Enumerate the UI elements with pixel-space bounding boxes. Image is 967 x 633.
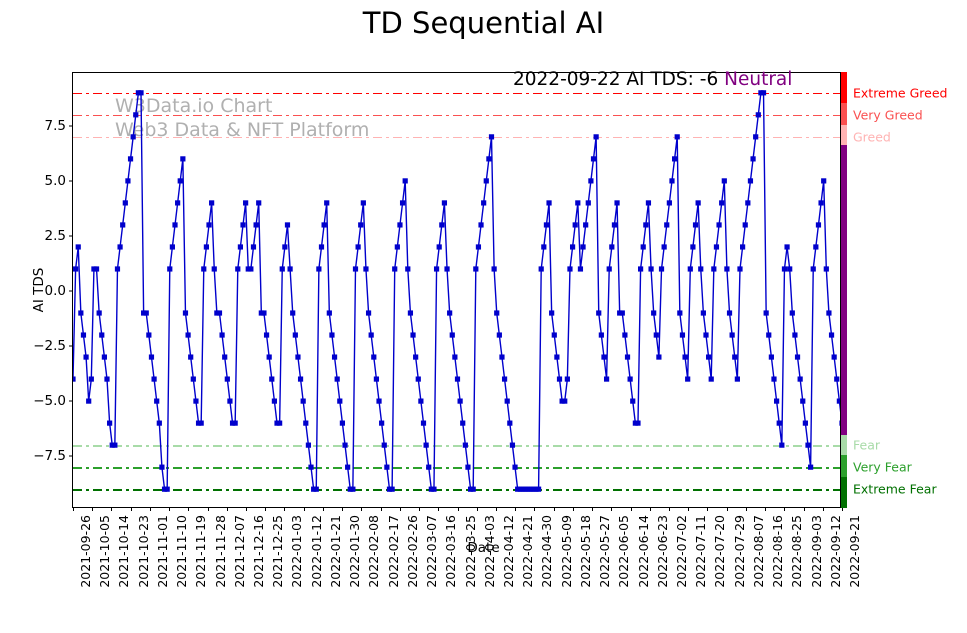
x-tick-mark [611, 507, 612, 511]
series-marker [473, 266, 478, 271]
series-marker [94, 266, 99, 271]
series-marker [777, 421, 782, 426]
plot-area: AI TDS 7.55.02.50.0−2.5−5.0−7.5 2021-09-… [72, 72, 841, 508]
series-marker [89, 376, 94, 381]
series-marker [264, 332, 269, 337]
colorbar-segment-very-greed [841, 103, 847, 125]
series-marker [329, 332, 334, 337]
annotation-sentiment: Neutral [724, 69, 792, 90]
series-marker [492, 266, 497, 271]
threshold-label: Extreme Fear [853, 482, 937, 497]
series-marker [609, 244, 614, 249]
series-marker [240, 222, 245, 227]
series-marker [484, 178, 489, 183]
series-marker [790, 310, 795, 315]
series-marker [280, 266, 285, 271]
series-marker [546, 200, 551, 205]
x-tick-mark [765, 507, 766, 511]
series-marker [648, 266, 653, 271]
x-tick-mark [208, 507, 209, 511]
series-marker [316, 266, 321, 271]
series-marker [170, 244, 175, 249]
series-marker [455, 376, 460, 381]
colorbar-segment-extreme-fear [841, 477, 847, 508]
x-tick-mark [381, 507, 382, 511]
series-marker [439, 222, 444, 227]
y-tick-label: −2.5 [33, 338, 66, 354]
series-marker [502, 376, 507, 381]
series-marker [784, 244, 789, 249]
x-tick-mark [746, 507, 747, 511]
series-marker [829, 332, 834, 337]
series-marker [764, 310, 769, 315]
x-tick-mark [419, 507, 420, 511]
series-marker [319, 244, 324, 249]
series-marker [227, 399, 232, 404]
series-marker [298, 376, 303, 381]
series-marker [361, 200, 366, 205]
series-marker [596, 310, 601, 315]
series-marker [478, 222, 483, 227]
series-marker [612, 222, 617, 227]
series-marker [476, 244, 481, 249]
series-marker [332, 354, 337, 359]
series-marker [586, 200, 591, 205]
series-marker [447, 310, 452, 315]
series-marker [426, 465, 431, 470]
x-tick-mark [650, 507, 651, 511]
series-marker [261, 310, 266, 315]
series-marker [672, 156, 677, 161]
x-tick-mark [804, 507, 805, 511]
series-marker [133, 112, 138, 117]
series-marker [193, 399, 198, 404]
series-marker [76, 244, 81, 249]
series-marker [808, 465, 813, 470]
series-marker [324, 200, 329, 205]
series-marker [499, 354, 504, 359]
series-marker [740, 244, 745, 249]
series-marker [688, 266, 693, 271]
y-tick-label: 0.0 [45, 283, 66, 299]
y-tick-label: 7.5 [45, 118, 66, 134]
series-marker [779, 443, 784, 448]
series-marker [821, 178, 826, 183]
series-marker [735, 376, 740, 381]
ai-tds-series [73, 73, 840, 507]
series-marker [233, 421, 238, 426]
x-tick-mark [131, 507, 132, 511]
series-marker [293, 332, 298, 337]
series-marker [185, 332, 190, 337]
y-tick-label: −7.5 [33, 448, 66, 464]
series-marker [217, 310, 222, 315]
series-marker [486, 156, 491, 161]
series-marker [659, 266, 664, 271]
series-marker [353, 266, 358, 271]
series-marker [450, 332, 455, 337]
series-marker [424, 443, 429, 448]
series-marker [219, 332, 224, 337]
series-marker [390, 487, 395, 492]
series-marker [505, 399, 510, 404]
y-tick-label: 5.0 [45, 173, 66, 189]
series-marker [272, 399, 277, 404]
series-marker [117, 244, 122, 249]
series-marker [104, 376, 109, 381]
series-marker [199, 421, 204, 426]
series-marker [588, 178, 593, 183]
series-marker [363, 266, 368, 271]
series-marker [544, 222, 549, 227]
series-marker [656, 354, 661, 359]
series-marker [371, 354, 376, 359]
series-marker [327, 310, 332, 315]
series-marker [761, 90, 766, 95]
series-marker [201, 266, 206, 271]
series-marker [706, 354, 711, 359]
x-tick-mark [227, 507, 228, 511]
series-marker [146, 332, 151, 337]
series-marker [465, 465, 470, 470]
x-tick-mark [92, 507, 93, 511]
series-marker [149, 354, 154, 359]
series-marker [714, 244, 719, 249]
series-line [73, 93, 840, 489]
x-tick-mark [496, 507, 497, 511]
y-tick-label: 2.5 [45, 228, 66, 244]
series-marker [138, 90, 143, 95]
series-marker [248, 266, 253, 271]
series-marker [172, 222, 177, 227]
series-marker [358, 222, 363, 227]
series-marker [654, 332, 659, 337]
series-marker [382, 443, 387, 448]
series-marker [306, 443, 311, 448]
x-tick-mark [284, 507, 285, 511]
series-marker [507, 421, 512, 426]
x-tick-mark [823, 507, 824, 511]
x-tick-mark [727, 507, 728, 511]
x-tick-mark [784, 507, 785, 511]
series-marker [400, 200, 405, 205]
series-marker [212, 266, 217, 271]
x-tick-mark [592, 507, 593, 511]
series-marker [463, 443, 468, 448]
colorbar-segment-greed [841, 125, 847, 145]
series-marker [730, 332, 735, 337]
series-marker [651, 310, 656, 315]
series-marker [282, 244, 287, 249]
series-marker [698, 266, 703, 271]
series-marker [677, 310, 682, 315]
series-marker [144, 310, 149, 315]
series-marker [724, 266, 729, 271]
x-tick-mark [265, 507, 266, 511]
series-marker [664, 222, 669, 227]
annotation-text: 2022-09-22 AI TDS: -6 [513, 69, 718, 90]
series-marker [753, 134, 758, 139]
x-tick-mark [688, 507, 689, 511]
series-marker [690, 244, 695, 249]
series-marker [123, 200, 128, 205]
series-marker [716, 222, 721, 227]
series-marker [667, 200, 672, 205]
series-marker [397, 222, 402, 227]
series-marker [497, 332, 502, 337]
series-marker [635, 421, 640, 426]
series-marker [771, 376, 776, 381]
series-marker [607, 266, 612, 271]
series-marker [102, 354, 107, 359]
series-marker [115, 266, 120, 271]
series-marker [335, 376, 340, 381]
series-marker [565, 376, 570, 381]
series-marker [539, 266, 544, 271]
sentiment-colorbar [841, 72, 847, 508]
series-marker [824, 266, 829, 271]
series-marker [625, 354, 630, 359]
threshold-label: Very Greed [853, 107, 923, 122]
series-marker [131, 134, 136, 139]
series-marker [295, 354, 300, 359]
y-tick-label: −5.0 [33, 393, 66, 409]
series-marker [322, 222, 327, 227]
series-marker [816, 222, 821, 227]
series-marker [622, 332, 627, 337]
series-marker [803, 421, 808, 426]
series-marker [157, 421, 162, 426]
threshold-label: Greed [853, 129, 891, 144]
x-tick-mark [458, 507, 459, 511]
series-marker [345, 465, 350, 470]
series-marker [800, 399, 805, 404]
series-marker [206, 222, 211, 227]
series-marker [685, 376, 690, 381]
series-marker [805, 443, 810, 448]
series-marker [73, 376, 76, 381]
series-marker [811, 266, 816, 271]
x-tick-mark [631, 507, 632, 511]
series-marker [416, 376, 421, 381]
series-marker [628, 376, 633, 381]
series-marker [254, 222, 259, 227]
series-marker [413, 354, 418, 359]
series-marker [209, 200, 214, 205]
series-marker [594, 134, 599, 139]
series-marker [727, 310, 732, 315]
colorbar-segment-fear [841, 435, 847, 455]
series-marker [701, 310, 706, 315]
series-marker [709, 376, 714, 381]
series-marker [837, 399, 840, 404]
series-marker [798, 376, 803, 381]
series-marker [434, 266, 439, 271]
series-marker [750, 156, 755, 161]
x-tick-mark [515, 507, 516, 511]
x-tick-mark [150, 507, 151, 511]
series-marker [722, 178, 727, 183]
colorbar-segment-very-fear [841, 455, 847, 477]
x-tick-mark [323, 507, 324, 511]
series-marker [682, 354, 687, 359]
series-marker [421, 421, 426, 426]
series-marker [431, 487, 436, 492]
series-marker [222, 354, 227, 359]
series-marker [83, 354, 88, 359]
series-marker [510, 443, 515, 448]
series-marker [460, 421, 465, 426]
series-marker [614, 200, 619, 205]
series-marker [444, 266, 449, 271]
series-marker [128, 156, 133, 161]
series-marker [340, 421, 345, 426]
series-marker [675, 134, 680, 139]
x-tick-mark [342, 507, 343, 511]
chart-root: TD Sequential AI AI TDS 7.55.02.50.0−2.5… [0, 0, 967, 633]
series-marker [366, 310, 371, 315]
series-marker [167, 266, 172, 271]
series-marker [314, 487, 319, 492]
x-axis-label: Date [0, 540, 967, 556]
series-marker [766, 332, 771, 337]
series-marker [256, 200, 261, 205]
series-marker [267, 354, 272, 359]
series-marker [235, 266, 240, 271]
series-marker [711, 266, 716, 271]
series-marker [481, 200, 486, 205]
series-marker [693, 222, 698, 227]
x-tick-mark [573, 507, 574, 511]
series-marker [251, 244, 256, 249]
series-marker [151, 376, 156, 381]
series-marker [641, 244, 646, 249]
x-tick-mark [111, 507, 112, 511]
series-marker [175, 200, 180, 205]
series-marker [646, 200, 651, 205]
series-marker [554, 354, 559, 359]
x-tick-mark [400, 507, 401, 511]
series-marker [489, 134, 494, 139]
series-marker [748, 178, 753, 183]
series-marker [557, 376, 562, 381]
series-clip [73, 73, 840, 507]
series-marker [703, 332, 708, 337]
x-tick-mark [169, 507, 170, 511]
series-marker [125, 178, 130, 183]
series-marker [630, 399, 635, 404]
series-marker [774, 399, 779, 404]
series-marker [834, 376, 839, 381]
series-marker [405, 266, 410, 271]
series-marker [301, 399, 306, 404]
series-marker [285, 222, 290, 227]
series-marker [599, 332, 604, 337]
series-marker [573, 222, 578, 227]
series-marker [745, 200, 750, 205]
x-tick-mark [554, 507, 555, 511]
x-tick-mark [73, 507, 74, 511]
series-marker [191, 376, 196, 381]
series-marker [238, 244, 243, 249]
series-marker [418, 399, 423, 404]
series-marker [308, 465, 313, 470]
series-marker [662, 244, 667, 249]
series-marker [578, 266, 583, 271]
series-marker [243, 200, 248, 205]
series-marker [403, 178, 408, 183]
x-tick-mark [188, 507, 189, 511]
series-marker [408, 310, 413, 315]
series-marker [512, 465, 517, 470]
series-marker [376, 399, 381, 404]
series-marker [680, 332, 685, 337]
series-marker [737, 266, 742, 271]
series-marker [552, 332, 557, 337]
series-marker [669, 178, 674, 183]
series-marker [154, 399, 159, 404]
series-marker [782, 266, 787, 271]
series-marker [818, 200, 823, 205]
series-marker [813, 244, 818, 249]
series-marker [839, 421, 840, 426]
series-marker [369, 332, 374, 337]
x-tick-mark [361, 507, 362, 511]
threshold-label: Very Fear [853, 460, 912, 475]
series-marker [384, 465, 389, 470]
series-marker [350, 487, 355, 492]
series-marker [583, 222, 588, 227]
series-marker [337, 399, 342, 404]
series-marker [204, 244, 209, 249]
current-value-annotation: 2022-09-22 AI TDS: -6 Neutral [513, 69, 792, 90]
series-marker [437, 244, 442, 249]
series-marker [832, 354, 837, 359]
series-marker [225, 376, 230, 381]
series-marker [575, 200, 580, 205]
series-marker [471, 487, 476, 492]
x-tick-mark [669, 507, 670, 511]
threshold-label: Extreme Greed [853, 85, 947, 100]
series-marker [732, 354, 737, 359]
series-marker [379, 421, 384, 426]
series-marker [696, 200, 701, 205]
series-marker [180, 156, 185, 161]
x-tick-mark [477, 507, 478, 511]
series-marker [107, 421, 112, 426]
series-marker [165, 487, 170, 492]
series-marker [78, 310, 83, 315]
series-marker [601, 354, 606, 359]
x-tick-mark [707, 507, 708, 511]
series-marker [288, 266, 293, 271]
series-marker [570, 244, 575, 249]
series-marker [452, 354, 457, 359]
colorbar-segment-neutral [841, 145, 847, 436]
series-marker [826, 310, 831, 315]
series-marker [112, 443, 117, 448]
series-marker [719, 200, 724, 205]
colorbar-segment-extreme-greed [841, 72, 847, 103]
series-marker [795, 354, 800, 359]
series-marker [395, 244, 400, 249]
series-marker [188, 354, 193, 359]
series-marker [99, 332, 104, 337]
series-marker [442, 200, 447, 205]
series-marker [73, 266, 78, 271]
series-marker [620, 310, 625, 315]
series-marker [536, 487, 541, 492]
